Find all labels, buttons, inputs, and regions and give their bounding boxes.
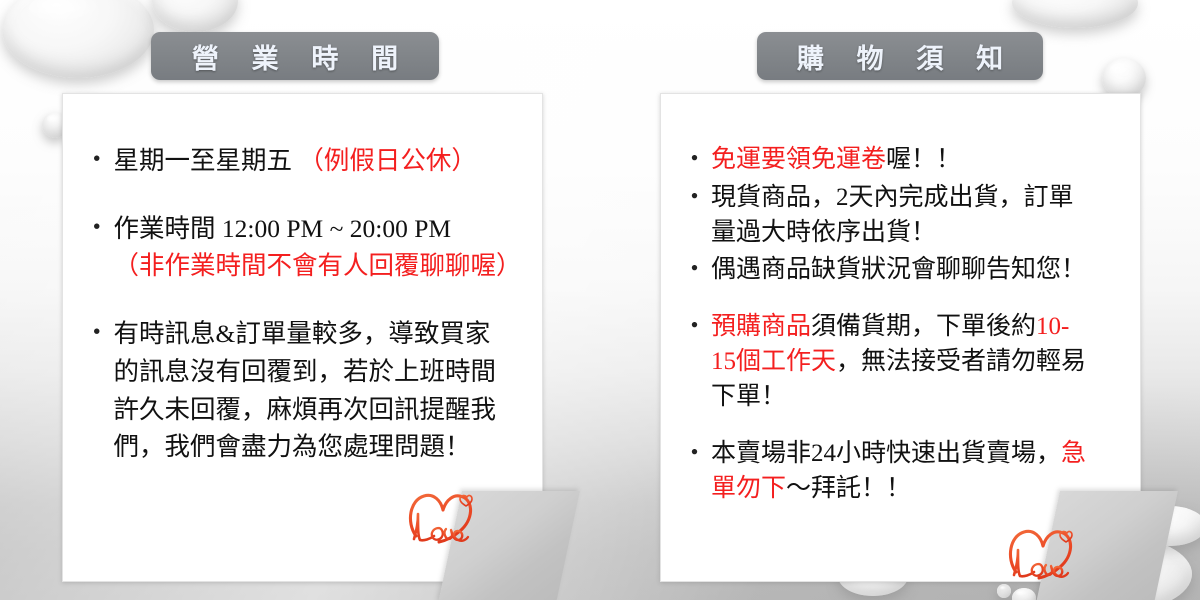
bullet-dot-icon: ・ bbox=[682, 436, 707, 472]
body-text: 喔！！ bbox=[886, 146, 961, 173]
body-text: 現貨商品，2天內完成出貨，訂單 bbox=[711, 184, 1074, 211]
card-corner-fold-left bbox=[442, 485, 542, 581]
card-corner-fold-flap-right bbox=[1036, 491, 1178, 600]
bullet-item-working-hours: ・作業時間 12:00 PM ~ 20:00 PM（非作業時間不會有人回覆聊聊喔… bbox=[84, 210, 536, 285]
body-text: 作業時間 12:00 PM ~ 20:00 PM bbox=[114, 214, 452, 243]
bullet-item-pre-order: ・預購商品須備貨期，下單後約10-15個工作天，無法接受者請勿輕易下單！ bbox=[682, 309, 1134, 414]
bullet-text-pre-order: 預購商品須備貨期，下單後約10-15個工作天，無法接受者請勿輕易下單！ bbox=[711, 309, 1134, 414]
text-line: 作業時間 12:00 PM ~ 20:00 PM bbox=[114, 210, 536, 248]
body-text: 須備貨期，下單後約 bbox=[811, 313, 1036, 340]
bullet-dot-icon: ・ bbox=[682, 252, 707, 288]
bullet-text-in-stock-shipping: 現貨商品，2天內完成出貨，訂單量過大時依序出貨！ bbox=[711, 180, 1134, 250]
bullet-dot-icon: ・ bbox=[84, 142, 110, 178]
text-line: 15個工作天，無法接受者請勿輕易 bbox=[711, 344, 1134, 379]
bubble-top-left-large-icon bbox=[2, 0, 154, 78]
text-line: 許久未回覆，麻煩再次回訊提醒我 bbox=[114, 391, 536, 429]
highlight-text: 15個工作天 bbox=[711, 348, 836, 375]
body-text: 們，我們會盡力為您處理問題！ bbox=[114, 432, 471, 461]
body-text: 有時訊息&訂單量較多，導致買家 bbox=[114, 319, 491, 348]
text-line: 的訊息沒有回覆到，若於上班時間 bbox=[114, 353, 536, 391]
body-text: 下單！ bbox=[711, 383, 786, 410]
card-body-business-hours: ・星期一至星期五 （例假日公休）・作業時間 12:00 PM ~ 20:00 P… bbox=[84, 142, 536, 466]
text-line: 星期一至星期五 （例假日公休） bbox=[114, 142, 536, 180]
body-text: 量過大時依序出貨！ bbox=[711, 219, 936, 246]
bubble-top-mid-icon bbox=[152, 0, 238, 32]
bullet-item-weekdays: ・星期一至星期五 （例假日公休） bbox=[84, 142, 536, 180]
bullet-dot-icon: ・ bbox=[84, 210, 110, 246]
text-line: 量過大時依序出貨！ bbox=[711, 215, 1134, 250]
bubble-top-right-wide-icon bbox=[1012, 0, 1138, 28]
section-header-shopping-notice: 購 物 須 知 bbox=[757, 32, 1043, 80]
text-line: 免運要領免運卷喔！！ bbox=[711, 142, 1134, 177]
body-text: 本賣場非24小時快速出貨賣場， bbox=[711, 440, 1061, 467]
bullet-text-weekdays: 星期一至星期五 （例假日公休） bbox=[114, 142, 536, 180]
bullet-item-in-stock-shipping: ・現貨商品，2天內完成出貨，訂單量過大時依序出貨！ bbox=[682, 180, 1134, 250]
text-line: （非作業時間不會有人回覆聊聊喔） bbox=[114, 247, 536, 285]
card-corner-fold-flap-left bbox=[438, 491, 580, 600]
highlight-text: 急 bbox=[1061, 440, 1086, 467]
slide-canvas: 營 業 時 間 ・星期一至星期五 （例假日公休）・作業時間 12:00 PM ~… bbox=[0, 0, 1200, 600]
bubble-bottom-right-sm-icon bbox=[1134, 506, 1200, 546]
text-line: 本賣場非24小時快速出貨賣場，急 bbox=[711, 436, 1134, 471]
highlight-text: （非作業時間不會有人回覆聊聊喔） bbox=[114, 251, 522, 280]
section-header-shopping-notice-title: 購 物 須 知 bbox=[784, 37, 1016, 76]
bullet-text-free-shipping: 免運要領免運卷喔！！ bbox=[711, 142, 1134, 177]
text-line: 偶遇商品缺貨狀況會聊聊告知您！ bbox=[711, 252, 1134, 287]
body-text: ～拜託！！ bbox=[786, 475, 911, 502]
body-text: 許久未回覆，麻煩再次回訊提醒我 bbox=[114, 395, 497, 424]
highlight-text: （例假日公休） bbox=[298, 146, 477, 175]
bubble-top-right-round-icon bbox=[1102, 58, 1146, 98]
highlight-text: 單勿下 bbox=[711, 475, 786, 502]
bullet-text-reply-delay-notice: 有時訊息&訂單量較多，導致買家的訊息沒有回覆到，若於上班時間許久未回覆，麻煩再次… bbox=[114, 315, 536, 466]
bullet-item-out-of-stock-notice: ・偶遇商品缺貨狀況會聊聊告知您！ bbox=[682, 252, 1134, 288]
card-body-shopping-notice: ・免運要領免運卷喔！！・現貨商品，2天內完成出貨，訂單量過大時依序出貨！・偶遇商… bbox=[682, 142, 1134, 506]
bullet-dot-icon: ・ bbox=[682, 180, 707, 216]
text-line: 下單！ bbox=[711, 379, 1134, 414]
bullet-item-not-24h-shop: ・本賣場非24小時快速出貨賣場，急單勿下～拜託！！ bbox=[682, 436, 1134, 506]
bullet-dot-icon: ・ bbox=[84, 315, 110, 351]
bullet-text-not-24h-shop: 本賣場非24小時快速出貨賣場，急單勿下～拜託！！ bbox=[711, 436, 1134, 506]
section-header-business-hours-title: 營 業 時 間 bbox=[179, 37, 411, 76]
highlight-text: 免運要領免運卷 bbox=[711, 146, 886, 173]
bullet-item-free-shipping: ・免運要領免運卷喔！！ bbox=[682, 142, 1134, 178]
section-header-business-hours: 營 業 時 間 bbox=[151, 32, 439, 80]
bubble-bottom-tiny-icon bbox=[997, 584, 1011, 598]
body-text: 的訊息沒有回覆到，若於上班時間 bbox=[114, 357, 497, 386]
highlight-text: 10- bbox=[1036, 313, 1069, 340]
body-text: ，無法接受者請勿輕易 bbox=[836, 348, 1086, 375]
bullet-item-reply-delay-notice: ・有時訊息&訂單量較多，導致買家的訊息沒有回覆到，若於上班時間許久未回覆，麻煩再… bbox=[84, 315, 536, 466]
text-line: 單勿下～拜託！！ bbox=[711, 471, 1134, 506]
bullet-dot-icon: ・ bbox=[682, 142, 707, 178]
bullet-text-working-hours: 作業時間 12:00 PM ~ 20:00 PM（非作業時間不會有人回覆聊聊喔） bbox=[114, 210, 536, 285]
highlight-text: 預購商品 bbox=[711, 313, 811, 340]
bubble-bottom-far-left-icon bbox=[1012, 588, 1036, 600]
bullet-text-out-of-stock-notice: 偶遇商品缺貨狀況會聊聊告知您！ bbox=[711, 252, 1134, 287]
text-line: 預購商品須備貨期，下單後約10- bbox=[711, 309, 1134, 344]
text-line: 們，我們會盡力為您處理問題！ bbox=[114, 428, 536, 466]
body-text: 偶遇商品缺貨狀況會聊聊告知您！ bbox=[711, 256, 1086, 283]
bullet-dot-icon: ・ bbox=[682, 309, 707, 345]
text-line: 有時訊息&訂單量較多，導致買家 bbox=[114, 315, 536, 353]
body-text: 星期一至星期五 bbox=[114, 146, 299, 175]
text-line: 現貨商品，2天內完成出貨，訂單 bbox=[711, 180, 1134, 215]
